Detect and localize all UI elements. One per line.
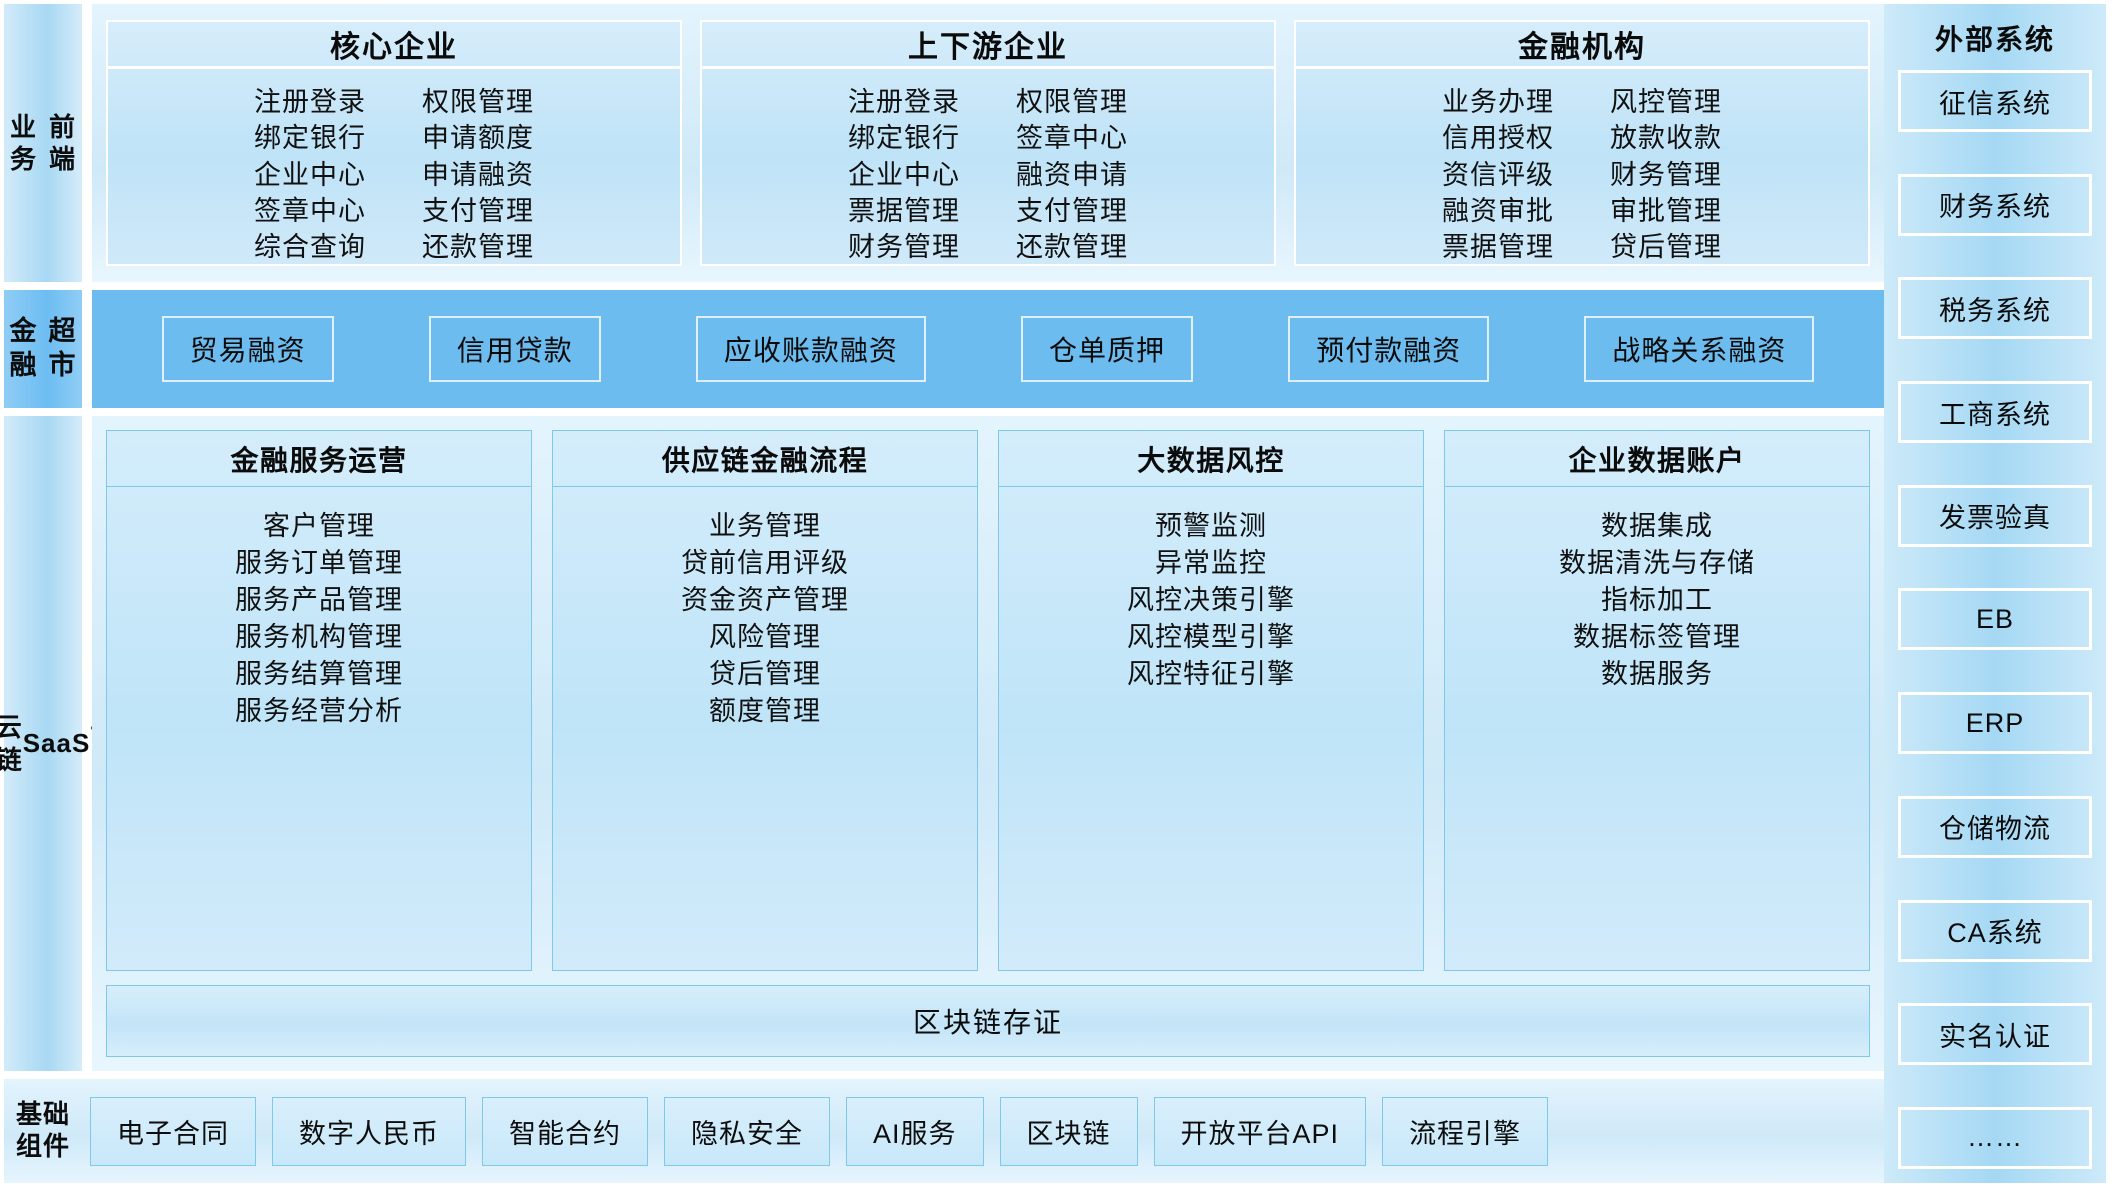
saas-module-item[interactable]: 数据清洗与存储 — [1559, 546, 1755, 582]
saas-module-item[interactable]: 风险管理 — [709, 620, 821, 656]
frontend-feature-item[interactable]: 绑定银行 — [848, 121, 960, 155]
saas-module-item[interactable]: 业务管理 — [709, 509, 821, 545]
frontend-card-columns: 业务办理信用授权资信评级融资审批票据管理风控管理放款收款财务管理审批管理贷后管理 — [1296, 69, 1868, 272]
frontend-feature-item[interactable]: 还款管理 — [422, 230, 534, 264]
frontend-card-columns: 注册登录绑定银行企业中心票据管理财务管理权限管理签章中心融资申请支付管理还款管理 — [702, 69, 1274, 272]
frontend-card-column-2: 权限管理申请额度申请融资支付管理还款管理 — [422, 85, 534, 264]
frontend-feature-item[interactable]: 支付管理 — [1016, 194, 1128, 228]
base-component-chip[interactable]: 区块链 — [1000, 1097, 1138, 1166]
frontend-feature-item[interactable]: 权限管理 — [1016, 85, 1128, 119]
layer-financial-market-label: 金融超市 — [4, 290, 82, 408]
external-system-chip[interactable]: ERP — [1898, 692, 2092, 754]
external-system-chip[interactable]: …… — [1898, 1107, 2092, 1169]
saas-module-item-list: 预警监测异常监控风控决策引擎风控模型引擎风控特征引擎 — [999, 487, 1423, 970]
financial-product-chip[interactable]: 仓单质押 — [1021, 316, 1193, 382]
saas-module-item[interactable]: 服务订单管理 — [235, 546, 403, 582]
frontend-feature-item[interactable]: 注册登录 — [848, 85, 960, 119]
frontend-feature-item[interactable]: 业务办理 — [1442, 85, 1554, 119]
frontend-feature-item[interactable]: 申请额度 — [422, 121, 534, 155]
frontend-feature-item[interactable]: 综合查询 — [254, 230, 366, 264]
base-label-line-1: 组件 — [16, 1131, 70, 1163]
frontend-feature-item[interactable]: 票据管理 — [1442, 230, 1554, 264]
frontend-card: 核心企业注册登录绑定银行企业中心签章中心综合查询权限管理申请额度申请融资支付管理… — [106, 20, 682, 266]
saas-module-item[interactable]: 服务经营分析 — [235, 694, 403, 730]
saas-label-line-1: 云链 — [0, 711, 23, 776]
frontend-feature-item[interactable]: 申请融资 — [422, 158, 534, 192]
base-component-chip[interactable]: AI服务 — [846, 1097, 984, 1166]
external-systems-list: 征信系统财务系统税务系统工商系统发票验真EBERP仓储物流CA系统实名认证…… — [1898, 70, 2092, 1173]
frontend-card-column-2: 风控管理放款收款财务管理审批管理贷后管理 — [1610, 85, 1722, 264]
saas-module-title: 企业数据账户 — [1445, 431, 1869, 487]
frontend-feature-item[interactable]: 财务管理 — [1610, 158, 1722, 192]
layer-base-components: 基础组件 电子合同数字人民币智能合约隐私安全AI服务区块链开放平台API流程引擎 — [4, 1079, 1884, 1183]
external-systems-panel: 外部系统 征信系统财务系统税务系统工商系统发票验真EBERP仓储物流CA系统实名… — [1884, 4, 2106, 1183]
base-component-chip[interactable]: 隐私安全 — [664, 1097, 830, 1166]
frontend-card-title: 核心企业 — [108, 22, 680, 69]
layer-base-components-body: 基础组件 电子合同数字人民币智能合约隐私安全AI服务区块链开放平台API流程引擎 — [4, 1079, 1884, 1183]
layer-saas-platform-body: 金融服务运营客户管理服务订单管理服务产品管理服务机构管理服务结算管理服务经营分析… — [92, 416, 1884, 1071]
layer-financial-market-body: 贸易融资信用贷款应收账款融资仓单质押预付款融资战略关系融资 — [92, 290, 1884, 408]
frontend-card: 金融机构业务办理信用授权资信评级融资审批票据管理风控管理放款收款财务管理审批管理… — [1294, 20, 1870, 266]
financial-product-chip[interactable]: 预付款融资 — [1288, 316, 1489, 382]
base-component-chip[interactable]: 流程引擎 — [1382, 1097, 1548, 1166]
frontend-card-title: 上下游企业 — [702, 22, 1274, 69]
layer-frontend-body: 核心企业注册登录绑定银行企业中心签章中心综合查询权限管理申请额度申请融资支付管理… — [92, 4, 1884, 282]
external-system-chip[interactable]: 仓储物流 — [1898, 796, 2092, 858]
saas-module-card: 大数据风控预警监测异常监控风控决策引擎风控模型引擎风控特征引擎 — [998, 430, 1424, 971]
frontend-feature-item[interactable]: 票据管理 — [848, 194, 960, 228]
frontend-feature-item[interactable]: 支付管理 — [422, 194, 534, 228]
financial-product-chip[interactable]: 信用贷款 — [429, 316, 601, 382]
layer-base-components-label: 基础组件 — [16, 1099, 74, 1162]
saas-module-card: 供应链金融流程业务管理贷前信用评级资金资产管理风险管理贷后管理额度管理 — [552, 430, 978, 971]
saas-module-item[interactable]: 资金资产管理 — [681, 583, 849, 619]
frontend-feature-item[interactable]: 资信评级 — [1442, 158, 1554, 192]
saas-module-item[interactable]: 数据标签管理 — [1573, 620, 1741, 656]
saas-module-item[interactable]: 服务结算管理 — [235, 657, 403, 693]
frontend-card-column-2: 权限管理签章中心融资申请支付管理还款管理 — [1016, 85, 1128, 264]
saas-card-row: 金融服务运营客户管理服务订单管理服务产品管理服务机构管理服务结算管理服务经营分析… — [106, 430, 1870, 971]
base-component-chip[interactable]: 数字人民币 — [272, 1097, 466, 1166]
frontend-feature-item[interactable]: 贷后管理 — [1610, 230, 1722, 264]
base-chip-row: 电子合同数字人民币智能合约隐私安全AI服务区块链开放平台API流程引擎 — [90, 1097, 1868, 1166]
saas-module-item[interactable]: 异常监控 — [1155, 546, 1267, 582]
frontend-feature-item[interactable]: 信用授权 — [1442, 121, 1554, 155]
frontend-feature-item[interactable]: 企业中心 — [848, 158, 960, 192]
frontend-feature-item[interactable]: 企业中心 — [254, 158, 366, 192]
saas-module-title: 金融服务运营 — [107, 431, 531, 487]
saas-module-item[interactable]: 客户管理 — [263, 509, 375, 545]
saas-module-item[interactable]: 服务产品管理 — [235, 583, 403, 619]
external-systems-sidebar: 外部系统 征信系统财务系统税务系统工商系统发票验真EBERP仓储物流CA系统实名… — [1884, 0, 2110, 1187]
market-label-line-1: 超市 — [43, 315, 82, 383]
financial-product-chip[interactable]: 应收账款融资 — [696, 316, 926, 382]
saas-module-item[interactable]: 数据服务 — [1601, 657, 1713, 693]
base-component-chip[interactable]: 开放平台API — [1154, 1097, 1367, 1166]
frontend-card-columns: 注册登录绑定银行企业中心签章中心综合查询权限管理申请额度申请融资支付管理还款管理 — [108, 69, 680, 272]
saas-module-title: 大数据风控 — [999, 431, 1423, 487]
layer-frontend: 业务前端 核心企业注册登录绑定银行企业中心签章中心综合查询权限管理申请额度申请融… — [4, 4, 1884, 282]
saas-module-item[interactable]: 服务机构管理 — [235, 620, 403, 656]
saas-module-item-list: 业务管理贷前信用评级资金资产管理风险管理贷后管理额度管理 — [553, 487, 977, 970]
layer-frontend-label: 业务前端 — [4, 4, 82, 282]
external-system-chip[interactable]: 财务系统 — [1898, 174, 2092, 236]
frontend-feature-item[interactable]: 审批管理 — [1610, 194, 1722, 228]
saas-module-item[interactable]: 风控决策引擎 — [1127, 583, 1295, 619]
external-system-chip[interactable]: 实名认证 — [1898, 1003, 2092, 1065]
frontend-feature-item[interactable]: 签章中心 — [254, 194, 366, 228]
saas-label-line-2: SaaS — [23, 727, 91, 760]
saas-module-item[interactable]: 风控模型引擎 — [1127, 620, 1295, 656]
layer-saas-platform-label: 神州云链SaaS平台 — [4, 416, 82, 1071]
external-system-chip[interactable]: 税务系统 — [1898, 277, 2092, 339]
saas-module-item[interactable]: 数据集成 — [1601, 509, 1713, 545]
external-system-chip[interactable]: 工商系统 — [1898, 381, 2092, 443]
base-component-chip[interactable]: 电子合同 — [90, 1097, 256, 1166]
saas-module-card: 企业数据账户数据集成数据清洗与存储指标加工数据标签管理数据服务 — [1444, 430, 1870, 971]
saas-module-item[interactable]: 指标加工 — [1601, 583, 1713, 619]
layer-saas-platform: 神州云链SaaS平台 金融服务运营客户管理服务订单管理服务产品管理服务机构管理服… — [4, 416, 1884, 1071]
saas-module-title: 供应链金融流程 — [553, 431, 977, 487]
frontend-feature-item[interactable]: 权限管理 — [422, 85, 534, 119]
saas-module-item[interactable]: 贷后管理 — [709, 657, 821, 693]
frontend-card: 上下游企业注册登录绑定银行企业中心票据管理财务管理权限管理签章中心融资申请支付管… — [700, 20, 1276, 266]
layer-financial-market: 金融超市 贸易融资信用贷款应收账款融资仓单质押预付款融资战略关系融资 — [4, 290, 1884, 408]
base-label-line-0: 基础 — [16, 1099, 70, 1131]
frontend-card-title: 金融机构 — [1296, 22, 1868, 69]
financial-product-chip[interactable]: 战略关系融资 — [1584, 316, 1814, 382]
frontend-card-column-1: 业务办理信用授权资信评级融资审批票据管理 — [1442, 85, 1554, 264]
saas-module-item[interactable]: 预警监测 — [1155, 509, 1267, 545]
frontend-feature-item[interactable]: 签章中心 — [1016, 121, 1128, 155]
external-system-chip[interactable]: 征信系统 — [1898, 70, 2092, 132]
architecture-diagram: 业务前端 核心企业注册登录绑定银行企业中心签章中心综合查询权限管理申请额度申请融… — [0, 0, 2114, 1187]
frontend-card-column-1: 注册登录绑定银行企业中心签章中心综合查询 — [254, 85, 366, 264]
saas-module-item-list: 客户管理服务订单管理服务产品管理服务机构管理服务结算管理服务经营分析 — [107, 487, 531, 970]
saas-module-item[interactable]: 贷前信用评级 — [681, 546, 849, 582]
saas-module-item-list: 数据集成数据清洗与存储指标加工数据标签管理数据服务 — [1445, 487, 1869, 970]
external-system-chip[interactable]: EB — [1898, 588, 2092, 650]
frontend-feature-item[interactable]: 还款管理 — [1016, 230, 1128, 264]
external-systems-title: 外部系统 — [1935, 18, 2055, 58]
financial-product-chip[interactable]: 贸易融资 — [162, 316, 334, 382]
main-column: 业务前端 核心企业注册登录绑定银行企业中心签章中心综合查询权限管理申请额度申请融… — [0, 0, 1884, 1187]
frontend-label-line-0: 业务 — [4, 111, 43, 176]
external-system-chip[interactable]: CA系统 — [1898, 900, 2092, 962]
market-label-line-0: 金融 — [4, 315, 43, 383]
frontend-feature-item[interactable]: 融资审批 — [1442, 194, 1554, 228]
frontend-feature-item[interactable]: 绑定银行 — [254, 121, 366, 155]
external-system-chip[interactable]: 发票验真 — [1898, 485, 2092, 547]
frontend-feature-item[interactable]: 融资申请 — [1016, 158, 1128, 192]
frontend-feature-item[interactable]: 风控管理 — [1610, 85, 1722, 119]
frontend-card-column-1: 注册登录绑定银行企业中心票据管理财务管理 — [848, 85, 960, 264]
frontend-feature-item[interactable]: 放款收款 — [1610, 121, 1722, 155]
base-component-chip[interactable]: 智能合约 — [482, 1097, 648, 1166]
blockchain-evidence-bar: 区块链存证 — [106, 985, 1870, 1057]
frontend-feature-item[interactable]: 注册登录 — [254, 85, 366, 119]
frontend-label-line-1: 前端 — [43, 111, 82, 176]
saas-module-card: 金融服务运营客户管理服务订单管理服务产品管理服务机构管理服务结算管理服务经营分析 — [106, 430, 532, 971]
saas-module-item[interactable]: 额度管理 — [709, 694, 821, 730]
saas-module-item[interactable]: 风控特征引擎 — [1127, 657, 1295, 693]
frontend-feature-item[interactable]: 财务管理 — [848, 230, 960, 264]
